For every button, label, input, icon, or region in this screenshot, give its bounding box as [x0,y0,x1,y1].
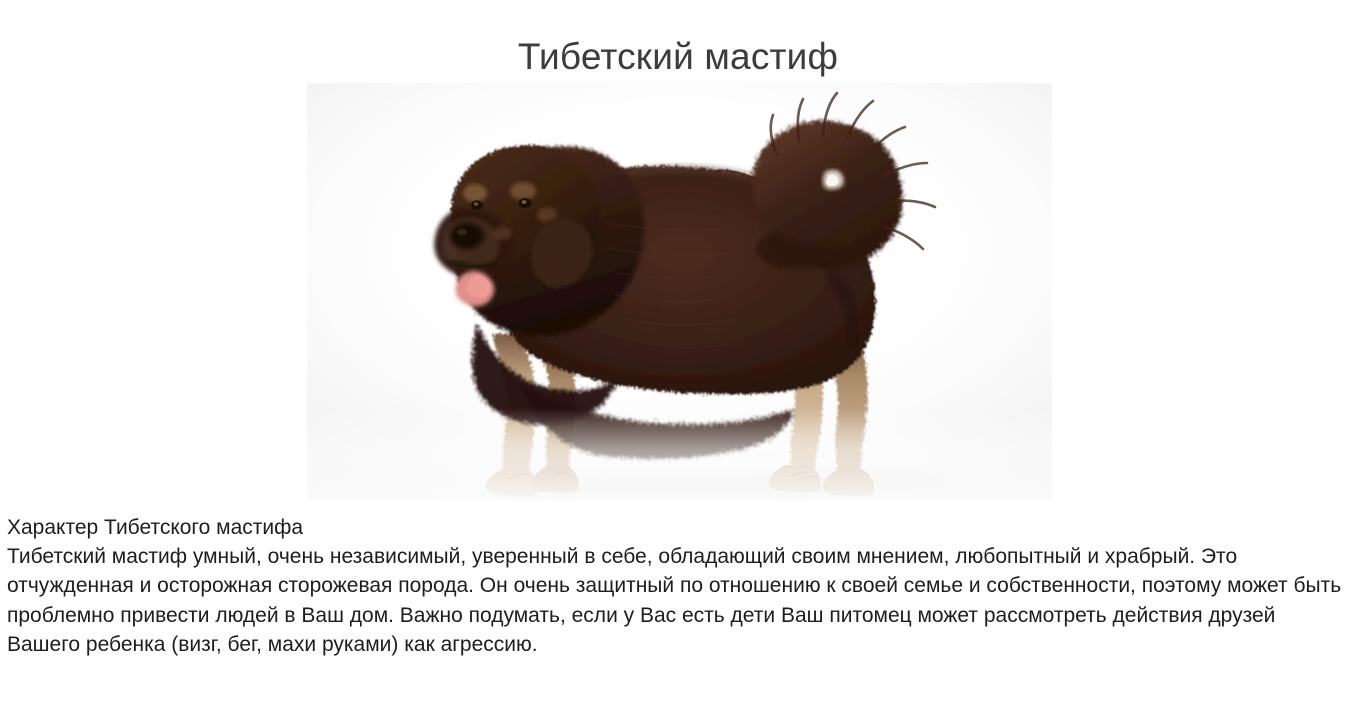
floor-reflection [307,408,1052,500]
page-root: Тибетский мастиф [0,0,1356,710]
description-heading: Характер Тибетского мастифа [7,513,1347,542]
dog-photo [307,83,1052,500]
page-title: Тибетский мастиф [0,33,1356,81]
breed-description: Характер Тибетского мастифа Тибетский ма… [7,513,1347,659]
description-paragraph: Тибетский мастиф умный, очень независимы… [7,542,1347,659]
